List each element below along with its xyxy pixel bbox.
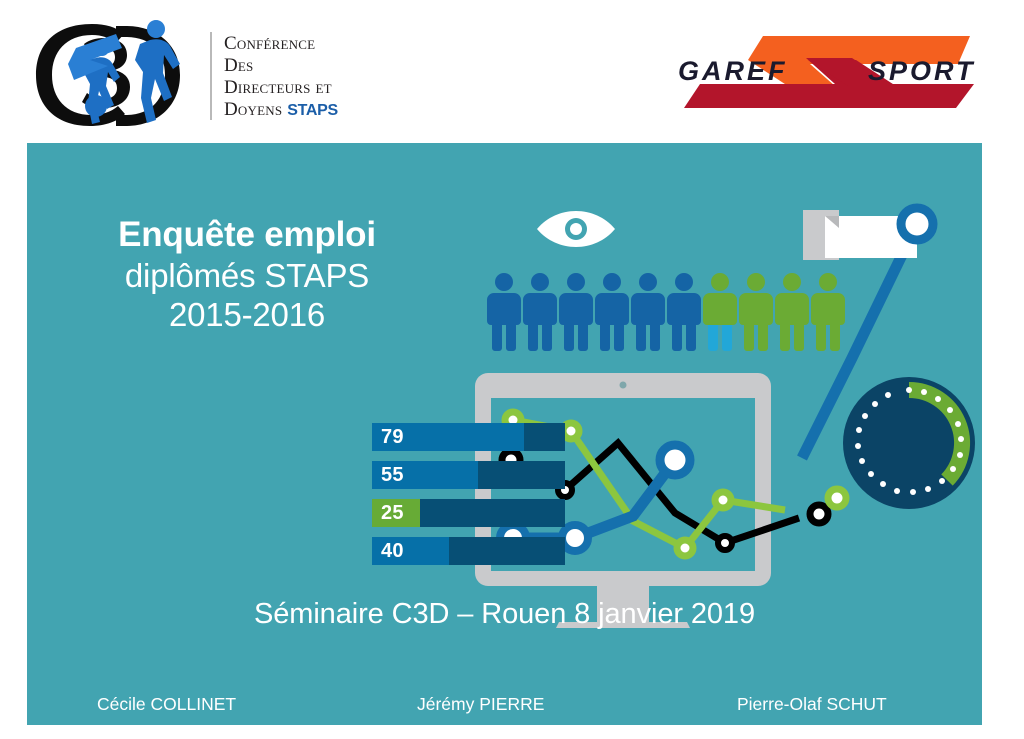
svg-text:SPORT: SPORT (868, 56, 976, 86)
c3d-athletes-logo-icon (30, 14, 200, 132)
table-row: 79 (372, 423, 565, 451)
c3d-text-line-2: Des (224, 56, 374, 75)
eye-icon (537, 211, 615, 247)
bar-value-4: 40 (381, 537, 404, 565)
people-highlight-icon (703, 273, 737, 351)
c3d-text-doyens: Doyens (224, 99, 282, 120)
svg-text:GAREF: GAREF (678, 56, 788, 86)
donut-gauge-icon (843, 377, 975, 509)
c3d-logo: Conférence Des Directeurs et Doyens STAP… (30, 14, 330, 132)
table-row: 55 (372, 461, 565, 489)
people-row-icon (487, 273, 845, 351)
page-title: Enquête emploi diplômés STAPS 2015-2016 (82, 215, 412, 335)
title-line-1: Enquête emploi (82, 215, 412, 256)
c3d-text-line-1: Conférence (224, 34, 374, 53)
title-line-3: 2015-2016 (82, 295, 412, 335)
table-row: 25 (372, 499, 565, 527)
bar-chart: 79 55 25 40 (372, 423, 592, 578)
title-line-2: diplômés STAPS (82, 256, 412, 296)
authors-list: Cécile COLLINET Jérémy PIERRE Pierre-Ola… (27, 688, 982, 720)
table-row: 40 (372, 537, 565, 565)
c3d-text-line-4: Doyens STAPS (224, 100, 374, 119)
bar-value-1: 79 (381, 423, 404, 451)
c3d-text-staps: STAPS (287, 102, 338, 119)
bar-value-2: 55 (381, 461, 404, 489)
slide-body: Enquête emploi diplômés STAPS 2015-2016 (27, 143, 982, 725)
seminar-subtitle: Séminaire C3D – Rouen 8 janvier 2019 (27, 598, 982, 631)
author-name-2: Jérémy PIERRE (417, 694, 544, 715)
logo-divider (210, 32, 212, 120)
author-name-1: Cécile COLLINET (97, 694, 236, 715)
c3d-logo-text: Conférence Des Directeurs et Doyens STAP… (224, 34, 374, 122)
garef-sport-logo-icon: GAREF SPORT (660, 28, 980, 113)
slide-header: Conférence Des Directeurs et Doyens STAP… (0, 0, 1024, 143)
bar-value-3: 25 (381, 499, 404, 527)
author-name-3: Pierre-Olaf SCHUT (737, 694, 887, 715)
c3d-text-line-3: Directeurs et (224, 78, 374, 97)
